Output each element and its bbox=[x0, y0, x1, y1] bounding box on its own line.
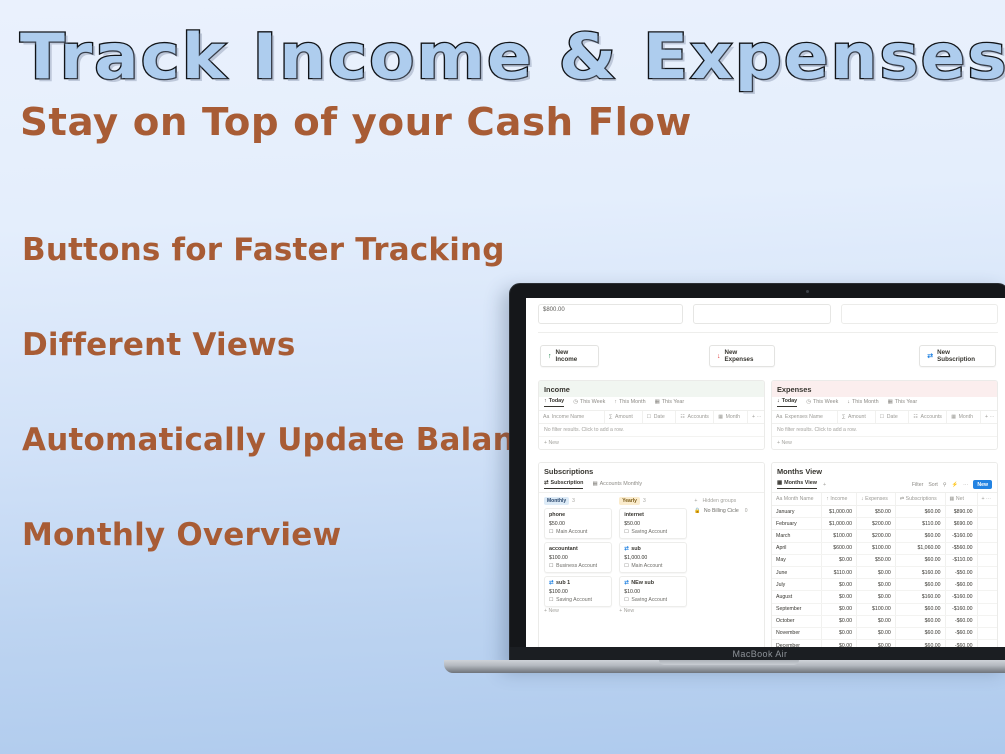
cell-income: $0.00 bbox=[822, 615, 857, 627]
tab-label: This Year bbox=[662, 399, 684, 405]
cell-expenses: $50.00 bbox=[857, 554, 896, 566]
new-expenses-label: New Expenses bbox=[725, 349, 767, 363]
expenses-tab-this-year[interactable]: ▦This Year bbox=[888, 398, 918, 407]
card-account: ☐Business Account bbox=[549, 563, 607, 569]
add-group-button[interactable]: + bbox=[694, 497, 697, 504]
calendar-icon: ☐ bbox=[647, 414, 652, 420]
tab-months-view[interactable]: ▦Months View bbox=[777, 480, 817, 489]
cell-month: October bbox=[772, 615, 822, 627]
page-subtitle: Stay on Top of your Cash Flow bbox=[20, 100, 999, 144]
yearly-new-card-button[interactable]: + New bbox=[619, 607, 687, 614]
number-icon: ∑ bbox=[842, 414, 846, 420]
new-button[interactable]: New bbox=[973, 480, 992, 489]
income-tab-this-week[interactable]: ◷This Week bbox=[573, 398, 605, 407]
column-header[interactable]: ☷Accounts bbox=[909, 411, 947, 423]
laptop-lid: $800.00 ↑ New Income ↓ New Expenses bbox=[509, 283, 1005, 666]
tab-label: Today bbox=[549, 398, 564, 404]
refresh-icon: ⇄ bbox=[544, 480, 549, 486]
balance-cards-row: $800.00 bbox=[538, 298, 998, 324]
cell-subscriptions: $60.00 bbox=[895, 554, 945, 566]
webcam-icon bbox=[806, 290, 809, 293]
cell-month: January bbox=[772, 506, 822, 518]
expenses-tab-this-month[interactable]: ↓This Month bbox=[847, 398, 878, 407]
card-title: ⇄NEw sub bbox=[624, 580, 682, 586]
expenses-tab-today[interactable]: ↓Today bbox=[777, 398, 797, 407]
refresh-icon: ⇄ bbox=[549, 580, 554, 586]
cell-expenses: $50.00 bbox=[857, 506, 896, 518]
tab-label: This Month bbox=[619, 399, 646, 405]
arrow-down-icon: ↓ bbox=[777, 398, 780, 404]
new-expenses-button[interactable]: ↓ New Expenses bbox=[709, 345, 775, 367]
calendar-icon: ▦ bbox=[718, 414, 723, 420]
income-tabs: ↑Today ◷This Week ↑This Month ▦This Year bbox=[539, 397, 764, 411]
cell-net: -$560.00 bbox=[945, 542, 977, 554]
balance-card[interactable] bbox=[693, 304, 831, 324]
cell-subscriptions: $60.00 bbox=[895, 627, 945, 639]
table-row[interactable]: March$100.00$200.00$60.00-$160.00 bbox=[772, 530, 997, 542]
hidden-groups-label: Hidden groups bbox=[702, 497, 736, 504]
feature-list: Buttons for Faster Tracking Different Vi… bbox=[22, 232, 542, 553]
refresh-icon: ⇄ bbox=[624, 546, 629, 552]
clock-icon: ◷ bbox=[573, 399, 578, 405]
cell-net: -$60.00 bbox=[945, 627, 977, 639]
cell-expenses: $200.00 bbox=[857, 530, 896, 542]
new-subscription-label: New Subscription bbox=[937, 349, 988, 363]
months-view-body: January$1,000.00$50.00$60.00$890.00 Febr… bbox=[772, 506, 997, 652]
column-header[interactable]: ☐Date bbox=[876, 411, 910, 423]
expenses-block: Expenses ↓Today ◷This Week ↓This Month ▦… bbox=[771, 380, 998, 450]
expenses-column-headers: AaExpenses Name ∑Amount ☐Date ☷Accounts … bbox=[772, 411, 997, 424]
cell-subscriptions: $60.00 bbox=[895, 530, 945, 542]
lightning-icon[interactable]: ⚡ bbox=[952, 482, 958, 488]
income-expenses-row: Income ↑Today ◷This Week ↑This Month ▦Th… bbox=[538, 377, 998, 450]
expenses-empty-state[interactable]: No filter results. Click to add a row. bbox=[772, 424, 997, 437]
cell-net: -$160.00 bbox=[945, 530, 977, 542]
cell-income: $1,000.00 bbox=[822, 506, 857, 518]
new-income-label: New Income bbox=[556, 349, 591, 363]
relation-icon: ☷ bbox=[913, 414, 918, 420]
cell-subscriptions: $60.00 bbox=[895, 579, 945, 591]
tab-label: Today bbox=[782, 398, 797, 404]
arrow-up-icon: ↑ bbox=[614, 399, 617, 405]
page-icon: ☐ bbox=[624, 563, 629, 569]
cell-expenses: $100.00 bbox=[857, 542, 896, 554]
subscription-card[interactable]: internet $50.00 ☐Saving Account bbox=[619, 508, 687, 539]
balance-card[interactable]: $800.00 bbox=[538, 304, 683, 324]
income-block: Income ↑Today ◷This Week ↑This Month ▦Th… bbox=[538, 380, 765, 450]
calendar-icon: ▦ bbox=[888, 399, 893, 405]
cell-income: $0.00 bbox=[822, 627, 857, 639]
number-icon: ∑ bbox=[609, 414, 613, 420]
subscriptions-tabs: ⇄Subscription ▦Accounts Monthly bbox=[539, 479, 764, 493]
column-header-expenses[interactable]: ↓ Expenses bbox=[857, 493, 896, 506]
refresh-icon: ⇄ bbox=[624, 580, 629, 586]
tab-label: This Month bbox=[852, 399, 879, 405]
income-empty-state[interactable]: No filter results. Click to add a row. bbox=[539, 424, 764, 437]
subscriptions-months-row: Subscriptions ⇄Subscription ▦Accounts Mo… bbox=[538, 459, 998, 655]
kanban-column-header[interactable]: Yearly3 bbox=[619, 497, 687, 505]
cell-expenses: $0.00 bbox=[857, 579, 896, 591]
tab-label: Accounts Monthly bbox=[600, 481, 643, 487]
months-view-title: Months View bbox=[772, 463, 997, 479]
clock-icon: ◷ bbox=[806, 399, 811, 405]
card-account: ☐Saving Account bbox=[624, 597, 682, 603]
card-amount: $50.00 bbox=[549, 521, 607, 527]
subscriptions-block: Subscriptions ⇄Subscription ▦Accounts Mo… bbox=[538, 462, 765, 655]
tab-label: Months View bbox=[784, 480, 817, 486]
feature-item: Monthly Overview bbox=[22, 517, 542, 553]
cell-income: $0.00 bbox=[822, 591, 857, 603]
cell-expenses: $0.00 bbox=[857, 591, 896, 603]
income-title: Income bbox=[539, 381, 764, 397]
cell-month: April bbox=[772, 542, 822, 554]
group-tag: Monthly bbox=[544, 497, 569, 505]
cell-subscriptions: $60.00 bbox=[895, 615, 945, 627]
card-amount: $100.00 bbox=[549, 555, 607, 561]
expenses-title: Expenses bbox=[772, 381, 997, 397]
balance-card[interactable] bbox=[841, 304, 998, 324]
column-header[interactable]: ∑Amount bbox=[838, 411, 876, 423]
arrow-up-icon: ↑ bbox=[548, 353, 552, 360]
column-header-net[interactable]: ▦ Net bbox=[945, 493, 977, 506]
expenses-tabs: ↓Today ◷This Week ↓This Month ▦This Year bbox=[772, 397, 997, 411]
table-row[interactable]: July$0.00$0.00$60.00-$60.00 bbox=[772, 579, 997, 591]
table-row[interactable]: September$0.00$100.00$60.00-$160.00 bbox=[772, 603, 997, 615]
cell-net: -$160.00 bbox=[945, 603, 977, 615]
add-column-button[interactable]: + ⋯ bbox=[748, 411, 764, 423]
cell-income: $1,000.00 bbox=[822, 518, 857, 530]
cell-income: $0.00 bbox=[822, 554, 857, 566]
filter-button[interactable]: Filter bbox=[912, 482, 924, 488]
page-icon: ☐ bbox=[624, 597, 629, 603]
group-count: 3 bbox=[572, 498, 575, 504]
laptop-mockup: $800.00 ↑ New Income ↓ New Expenses bbox=[509, 283, 1005, 683]
cell-subscriptions: $60.00 bbox=[895, 506, 945, 518]
cell-net: $890.00 bbox=[945, 506, 977, 518]
add-view-button[interactable]: + bbox=[823, 482, 826, 488]
table-row[interactable]: August$0.00$0.00$160.00-$160.00 bbox=[772, 591, 997, 603]
arrow-down-icon: ↓ bbox=[847, 399, 850, 405]
cell-month: September bbox=[772, 603, 822, 615]
new-income-button[interactable]: ↑ New Income bbox=[540, 345, 599, 367]
cell-month: August bbox=[772, 591, 822, 603]
page-icon: ☐ bbox=[624, 529, 629, 535]
table-row[interactable]: October$0.00$0.00$60.00-$60.00 bbox=[772, 615, 997, 627]
card-title: internet bbox=[624, 512, 682, 518]
kanban-column-yearly: Yearly3 internet $50.00 ☐Saving Account … bbox=[619, 497, 687, 614]
cell-month: February bbox=[772, 518, 822, 530]
card-title: phone bbox=[549, 512, 607, 518]
hidden-groups-column: + Hidden groups 🔒 No Billing Cicle 0 bbox=[694, 497, 759, 614]
add-column-button[interactable]: + ⋯ bbox=[981, 411, 997, 423]
card-amount: $1,000.00 bbox=[624, 555, 682, 561]
card-account: ☐Saving Account bbox=[549, 597, 607, 603]
subscription-card[interactable]: accountant $100.00 ☐Business Account bbox=[544, 542, 612, 573]
column-header[interactable]: ▦Month bbox=[714, 411, 748, 423]
months-view-table: Aa Month Name ↑ Income ↓ Expenses ⇄ Subs… bbox=[772, 493, 997, 652]
subscription-card[interactable]: phone $50.00 ☐Main Account bbox=[544, 508, 612, 539]
cell-income: $100.00 bbox=[822, 530, 857, 542]
tab-subscription[interactable]: ⇄Subscription bbox=[544, 480, 583, 489]
text-icon: Aa bbox=[543, 414, 549, 420]
cell-expenses: $0.00 bbox=[857, 566, 896, 578]
cell-net: -$60.00 bbox=[945, 615, 977, 627]
add-column-button[interactable]: + ⋯ bbox=[977, 493, 997, 506]
income-tab-today[interactable]: ↑Today bbox=[544, 398, 564, 407]
expenses-new-row-button[interactable]: + New bbox=[772, 437, 997, 449]
group-tag: Yearly bbox=[619, 497, 640, 505]
cell-month: June bbox=[772, 566, 822, 578]
page-icon: ☐ bbox=[549, 563, 554, 569]
table-row[interactable]: June$110.00$0.00$160.00-$50.00 bbox=[772, 566, 997, 578]
table-row[interactable]: January$1,000.00$50.00$60.00$890.00 bbox=[772, 506, 997, 518]
arrow-down-icon: ↓ bbox=[717, 353, 721, 360]
notion-app: $800.00 ↑ New Income ↓ New Expenses bbox=[526, 298, 1005, 655]
column-header[interactable]: ☷Accounts bbox=[676, 411, 714, 423]
headline-block: Track Income & Expenses Stay on Top of y… bbox=[20, 26, 980, 144]
subscription-card[interactable]: ⇄sub 1 $100.00 ☐Saving Account bbox=[544, 576, 612, 607]
income-tab-this-month[interactable]: ↑This Month bbox=[614, 398, 645, 407]
cell-expenses: $0.00 bbox=[857, 627, 896, 639]
column-header[interactable]: ▦Month bbox=[947, 411, 981, 423]
income-new-row-button[interactable]: + New bbox=[539, 437, 764, 449]
card-amount: $100.00 bbox=[549, 589, 607, 595]
card-account: ☐Main Account bbox=[549, 529, 607, 535]
laptop-base bbox=[444, 660, 1005, 673]
ellipsis-icon[interactable]: ⋯ bbox=[963, 482, 968, 488]
feature-item: Different Views bbox=[22, 327, 542, 363]
cell-income: $600.00 bbox=[822, 542, 857, 554]
cell-income: $0.00 bbox=[822, 603, 857, 615]
cell-expenses: $0.00 bbox=[857, 615, 896, 627]
table-row[interactable]: November$0.00$0.00$60.00-$60.00 bbox=[772, 627, 997, 639]
kanban-column-monthly: Monthly3 phone $50.00 ☐Main Account acco… bbox=[544, 497, 612, 614]
sort-button[interactable]: Sort bbox=[928, 482, 938, 488]
table-row[interactable]: May$0.00$50.00$60.00-$110.00 bbox=[772, 554, 997, 566]
cell-net: -$50.00 bbox=[945, 566, 977, 578]
table-row[interactable]: February$1,000.00$200.00$110.00$690.00 bbox=[772, 518, 997, 530]
lock-icon: 🔒 bbox=[694, 508, 700, 514]
refresh-icon: ⇄ bbox=[927, 353, 933, 360]
page-title: Track Income & Expenses bbox=[20, 26, 1005, 88]
tab-label: Subscription bbox=[551, 480, 584, 486]
monthly-new-card-button[interactable]: + New bbox=[544, 607, 612, 614]
cell-subscriptions: $110.00 bbox=[895, 518, 945, 530]
cell-net: $690.00 bbox=[945, 518, 977, 530]
column-header[interactable]: AaExpenses Name bbox=[772, 411, 838, 423]
relation-icon: ☷ bbox=[680, 414, 685, 420]
card-amount: $10.00 bbox=[624, 589, 682, 595]
income-column-headers: AaIncome Name ∑Amount ☐Date ☷Accounts ▦M… bbox=[539, 411, 764, 424]
table-row[interactable]: April$600.00$100.00$1,060.00-$560.00 bbox=[772, 542, 997, 554]
card-title: accountant bbox=[549, 546, 607, 552]
feature-item: Automatically Update Balance bbox=[22, 422, 542, 458]
arrow-up-icon: ↑ bbox=[544, 398, 547, 404]
tab-accounts-monthly[interactable]: ▦Accounts Monthly bbox=[592, 480, 642, 489]
subscription-card[interactable]: ⇄NEw sub $10.00 ☐Saving Account bbox=[619, 576, 687, 607]
table-header-row: Aa Month Name ↑ Income ↓ Expenses ⇄ Subs… bbox=[772, 493, 997, 506]
cell-expenses: $200.00 bbox=[857, 518, 896, 530]
calendar-icon: ▦ bbox=[951, 414, 956, 420]
card-amount: $50.00 bbox=[624, 521, 682, 527]
feature-item: Buttons for Faster Tracking bbox=[22, 232, 542, 268]
tab-label: This Year bbox=[895, 399, 917, 405]
card-title: ⇄sub bbox=[624, 546, 682, 552]
income-tab-this-year[interactable]: ▦This Year bbox=[655, 398, 685, 407]
cell-subscriptions: $160.00 bbox=[895, 591, 945, 603]
action-button-row: ↑ New Income ↓ New Expenses ⇄ New Subscr… bbox=[538, 333, 998, 377]
cell-month: July bbox=[772, 579, 822, 591]
cell-net: -$60.00 bbox=[945, 579, 977, 591]
search-icon[interactable]: ⚲ bbox=[943, 482, 947, 488]
text-icon: Aa bbox=[776, 496, 784, 502]
cell-month: November bbox=[772, 627, 822, 639]
cell-subscriptions: $160.00 bbox=[895, 566, 945, 578]
calendar-icon: ▦ bbox=[655, 399, 660, 405]
page-icon: ☐ bbox=[549, 529, 554, 535]
months-view-block: Months View ▦Months View + Filter Sort ⚲… bbox=[771, 462, 998, 655]
table-icon: ▦ bbox=[777, 480, 782, 486]
hidden-group-count: 0 bbox=[745, 508, 748, 514]
laptop-screen: $800.00 ↑ New Income ↓ New Expenses bbox=[526, 298, 1005, 655]
card-account: ☐Main Account bbox=[624, 563, 682, 569]
months-view-toolbar: ▦Months View + Filter Sort ⚲ ⚡ ⋯ New bbox=[772, 479, 997, 493]
tab-label: This Week bbox=[813, 399, 838, 405]
cell-subscriptions: $60.00 bbox=[895, 603, 945, 615]
card-account: ☐Saving Account bbox=[624, 529, 682, 535]
hidden-group-item[interactable]: 🔒 No Billing Cicle 0 bbox=[694, 508, 759, 514]
subscriptions-title: Subscriptions bbox=[539, 463, 764, 479]
text-icon: Aa bbox=[776, 414, 782, 420]
group-count: 3 bbox=[643, 498, 646, 504]
cell-income: $110.00 bbox=[822, 566, 857, 578]
table-icon: ▦ bbox=[592, 481, 597, 487]
cell-month: March bbox=[772, 530, 822, 542]
cell-month: May bbox=[772, 554, 822, 566]
cell-subscriptions: $1,060.00 bbox=[895, 542, 945, 554]
page-icon: ☐ bbox=[549, 597, 554, 603]
kanban-column-header[interactable]: Monthly3 bbox=[544, 497, 612, 505]
calendar-icon: ☐ bbox=[880, 414, 885, 420]
column-header[interactable]: ☐Date bbox=[643, 411, 677, 423]
new-subscription-button[interactable]: ⇄ New Subscription bbox=[919, 345, 996, 367]
card-title: ⇄sub 1 bbox=[549, 580, 607, 586]
column-header-income[interactable]: ↑ Income bbox=[822, 493, 857, 506]
column-header-month[interactable]: Aa Month Name bbox=[772, 493, 822, 506]
column-header-subscriptions[interactable]: ⇄ Subscriptions bbox=[895, 493, 945, 506]
cell-net: -$160.00 bbox=[945, 591, 977, 603]
column-header[interactable]: ∑Amount bbox=[605, 411, 643, 423]
cell-income: $0.00 bbox=[822, 579, 857, 591]
column-header[interactable]: AaIncome Name bbox=[539, 411, 605, 423]
cell-expenses: $100.00 bbox=[857, 603, 896, 615]
subscriptions-kanban: Monthly3 phone $50.00 ☐Main Account acco… bbox=[539, 493, 764, 618]
cell-net: -$110.00 bbox=[945, 554, 977, 566]
hidden-group-label: No Billing Cicle bbox=[704, 508, 739, 514]
tab-label: This Week bbox=[580, 399, 605, 405]
subscription-card[interactable]: ⇄sub $1,000.00 ☐Main Account bbox=[619, 542, 687, 573]
expenses-tab-this-week[interactable]: ◷This Week bbox=[806, 398, 838, 407]
